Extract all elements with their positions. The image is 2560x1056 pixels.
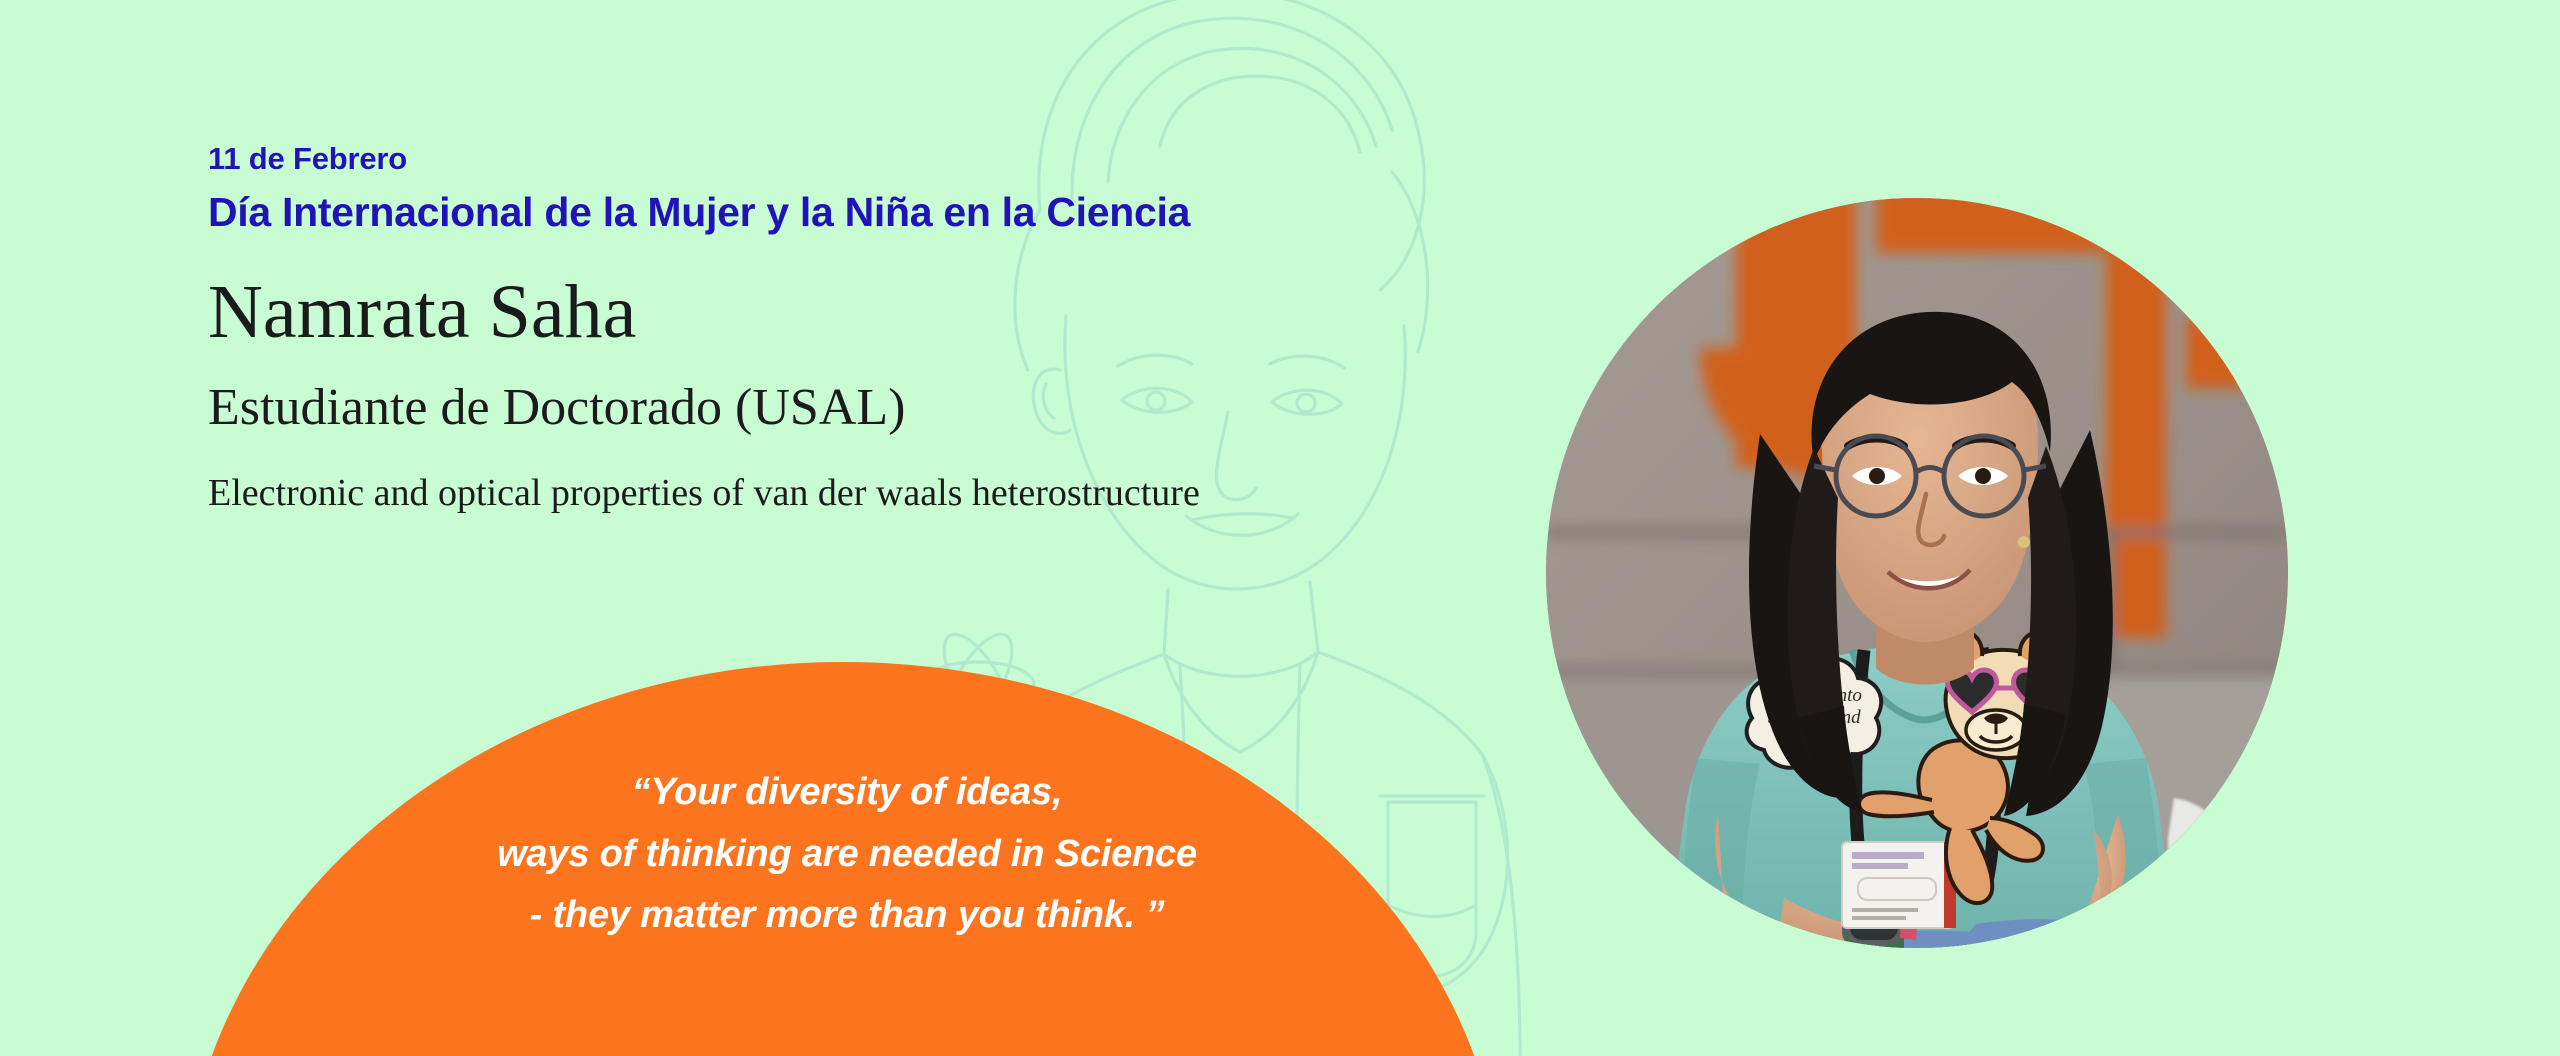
poster-canvas: 11 de Febrero Día Internacional de la Mu…: [0, 0, 2560, 1056]
quote-line-1: “Your diversity of ideas,: [282, 762, 1412, 824]
person-name: Namrata Saha: [208, 271, 1508, 353]
research-topic: Electronic and optical properties of van…: [208, 463, 1398, 525]
quote-line-2: ways of thinking are needed in Science: [282, 824, 1412, 886]
text-column: 11 de Febrero Día Internacional de la Mu…: [208, 140, 1508, 524]
event-title: Día Internacional de la Mujer y la Niña …: [208, 188, 1508, 237]
portrait-illustration: Walking into the weekend like...: [1546, 198, 2288, 948]
quote-line-3: - they matter more than you think. ”: [282, 885, 1412, 947]
person-role: Estudiante de Doctorado (USAL): [208, 379, 1508, 436]
event-date: 11 de Febrero: [208, 140, 1508, 177]
portrait-photo: Walking into the weekend like...: [1546, 198, 2288, 948]
pull-quote: “Your diversity of ideas, ways of thinki…: [282, 762, 1412, 947]
